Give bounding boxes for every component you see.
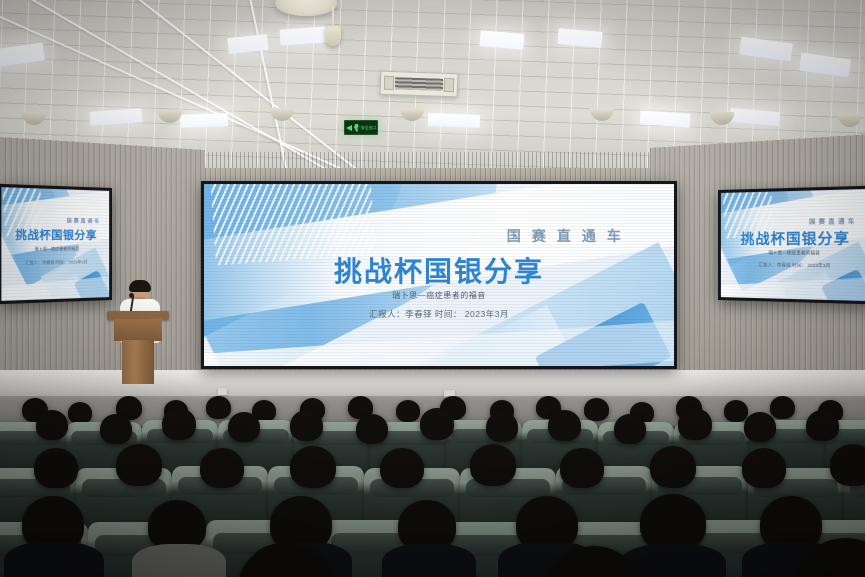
slide-kicker: 国赛直通车 <box>809 216 858 226</box>
presenter-hair <box>129 280 151 292</box>
exit-arrow-icon <box>346 125 352 131</box>
ac-vent-louvers <box>395 77 443 91</box>
slide-subline: 瑞卜思—癌症患者的福音 <box>721 250 865 257</box>
audience-head <box>650 446 696 488</box>
audience-head <box>34 448 78 488</box>
audience-head brown <box>380 448 424 488</box>
stage-object <box>218 388 227 395</box>
podium <box>107 311 169 383</box>
slide-subline: 瑞卜思—癌症患者的福音 <box>204 290 674 301</box>
slide-headline: 挑战杯国银分享 <box>204 250 674 290</box>
slide-right: 国赛直通车 挑战杯国银分享 瑞卜思—癌症患者的福音 汇报人：李春铎 时间： 20… <box>721 189 865 301</box>
audience-shoulders <box>4 542 104 577</box>
slide-text-main: 国赛直通车 挑战杯国银分享 瑞卜思—癌症患者的福音 汇报人：李春铎 时间： 20… <box>204 184 674 366</box>
slide-headline: 挑战杯国银分享 <box>1 226 109 243</box>
audience-head <box>678 408 712 440</box>
ac-vent <box>380 71 459 98</box>
audience-head <box>744 412 776 442</box>
slide-kicker: 国赛直通车 <box>507 226 632 246</box>
left-side-screen[interactable]: 国赛直通车 挑战杯国银分享 瑞卜思—癌症患者的福音 汇报人：李春铎 时间： 20… <box>0 184 112 304</box>
ceiling-projector <box>325 26 341 46</box>
audience-head <box>742 448 786 488</box>
right-side-screen[interactable]: 国赛直通车 挑战杯国银分享 瑞卜思—癌症患者的福音 汇报人：李春铎 时间： 20… <box>718 186 865 305</box>
ac-vent-end <box>444 78 454 92</box>
audience-head <box>290 410 323 441</box>
projector-rod <box>332 6 334 28</box>
audience-head <box>770 396 795 419</box>
slide-text-left: 国赛直通车 挑战杯国银分享 瑞卜思—癌症患者的福音 汇报人：李春铎 时间： 20… <box>1 187 109 301</box>
audience-head <box>206 396 231 419</box>
microphone-icon <box>129 293 134 298</box>
audience-shoulders <box>382 544 476 577</box>
ceiling-panel-light <box>180 113 228 128</box>
audience-head <box>100 414 132 444</box>
audience-head <box>116 444 162 486</box>
running-man-icon <box>354 124 359 132</box>
audience-head <box>200 448 244 488</box>
audience-head <box>162 408 196 440</box>
audience-head <box>584 398 609 421</box>
audience-head <box>614 414 646 444</box>
audience-head <box>724 400 748 422</box>
slide-text-right: 国赛直通车 挑战杯国银分享 瑞卜思—癌症患者的福音 汇报人：李春铎 时间： 20… <box>721 189 865 301</box>
auditorium-photo: 安全出口 <box>0 0 865 577</box>
audience-head <box>470 444 516 486</box>
audience-head <box>290 446 336 488</box>
slide-byline: 汇报人：李春铎 时间： 2023年3月 <box>204 308 674 320</box>
podium-base <box>122 340 154 384</box>
audience-head <box>68 402 92 424</box>
audience-head <box>486 412 518 442</box>
ceiling-panel-light <box>428 113 480 128</box>
audience-shoulders <box>132 544 226 577</box>
audience-head <box>806 410 839 441</box>
main-center-screen[interactable]: 国赛直通车 挑战杯国银分享 瑞卜思—癌症患者的福音 汇报人：李春铎 时间： 20… <box>201 181 677 369</box>
slide-byline: 汇报人：李春铎 时间： 2023年3月 <box>721 262 865 270</box>
emergency-exit-sign: 安全出口 <box>344 120 378 135</box>
exit-sign-label: 安全出口 <box>361 126 376 130</box>
audience-head <box>36 410 68 440</box>
audience-head <box>396 400 420 422</box>
audience-head <box>356 414 388 444</box>
slide-subline: 瑞卜思—癌症患者的福音 <box>1 246 109 253</box>
ceiling-panel-light <box>279 26 326 45</box>
slide-headline: 挑战杯国银分享 <box>721 228 865 250</box>
audience-head <box>420 408 454 440</box>
audience-head <box>228 412 260 442</box>
audience-head <box>830 444 865 486</box>
audience-area <box>0 396 865 577</box>
audience-head <box>548 410 581 441</box>
slide-kicker: 国赛直通车 <box>67 217 101 225</box>
slide-byline: 汇报人：李春铎 时间： 2023年3月 <box>1 259 109 266</box>
slide-main: 国赛直通车 挑战杯国银分享 瑞卜思—癌症患者的福音 汇报人：李春铎 时间： 20… <box>204 184 674 366</box>
podium-body <box>114 319 162 341</box>
ac-vent-end <box>384 76 394 90</box>
slide-left: 国赛直通车 挑战杯国银分享 瑞卜思—癌症患者的福音 汇报人：李春铎 时间： 20… <box>1 187 109 301</box>
audience-head <box>560 448 604 488</box>
